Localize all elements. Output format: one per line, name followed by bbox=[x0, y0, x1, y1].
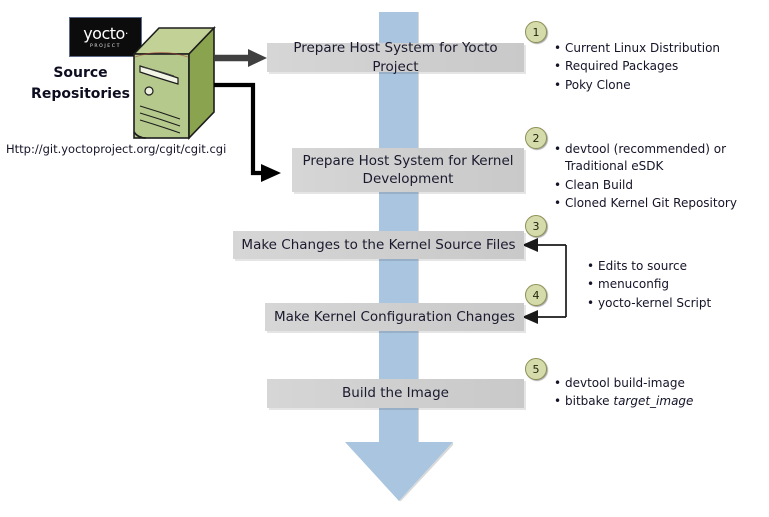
yocto-logo-dot: · bbox=[125, 27, 128, 40]
list-item: bitbake target_image bbox=[565, 393, 751, 410]
list-item: devtool build-image bbox=[565, 375, 751, 392]
server-tower-icon bbox=[132, 26, 216, 140]
yocto-logo-text: yocto bbox=[83, 24, 125, 43]
step-4-box-label: Make Kernel Configuration Changes bbox=[274, 308, 515, 326]
step-2-box-label-line1: Prepare Host System for Kernel bbox=[302, 153, 513, 169]
list-item: devtool (recommended) or Traditional eSD… bbox=[565, 141, 751, 176]
list-item: Required Packages bbox=[565, 58, 766, 75]
list-item: Edits to source bbox=[598, 258, 764, 275]
list-item-italic: target_image bbox=[613, 394, 693, 408]
step-4-number: 4 bbox=[533, 289, 540, 302]
step-5-bullets: devtool build-image bitbake target_image bbox=[551, 375, 751, 412]
step-4-number-badge: 4 bbox=[525, 284, 547, 306]
bracket-arrow-steps-3-4 bbox=[522, 238, 566, 324]
step-1-bullets: Current Linux Distribution Required Pack… bbox=[551, 40, 766, 95]
arrow-server-to-step1 bbox=[214, 49, 267, 67]
diagram-canvas: yocto· PROJECT Source Repositories Http:… bbox=[0, 0, 769, 517]
list-item: Clean Build bbox=[565, 177, 751, 194]
steps-3-4-shared-bullets: Edits to source menuconfig yocto-kernel … bbox=[584, 258, 764, 313]
flow-spine bbox=[379, 12, 419, 442]
step-2-number-badge: 2 bbox=[525, 127, 547, 149]
step-5-number-badge: 5 bbox=[525, 358, 547, 380]
step-3-box[interactable]: Make Changes to the Kernel Source Files bbox=[233, 231, 524, 259]
step-1-number-badge: 1 bbox=[525, 21, 547, 43]
step-2-box-label-line2: Development bbox=[363, 171, 454, 187]
list-item: Cloned Kernel Git Repository bbox=[565, 195, 751, 212]
yocto-logo-subtitle: PROJECT bbox=[90, 44, 121, 49]
source-repositories-label: Source Repositories bbox=[18, 63, 143, 105]
step-4-box[interactable]: Make Kernel Configuration Changes bbox=[265, 303, 524, 331]
step-3-number: 3 bbox=[533, 220, 540, 233]
step-2-bullets: devtool (recommended) or Traditional eSD… bbox=[551, 141, 751, 214]
source-repository-url: Http://git.yoctoproject.org/cgit/cgit.cg… bbox=[6, 142, 226, 156]
list-item: menuconfig bbox=[598, 276, 764, 293]
step-2-box-label: Prepare Host System for Kernel Developme… bbox=[302, 152, 513, 188]
step-3-box-label: Make Changes to the Kernel Source Files bbox=[241, 236, 515, 254]
step-3-number-badge: 3 bbox=[525, 215, 547, 237]
source-repositories-label-line1: Source bbox=[18, 63, 143, 84]
arrow-server-to-step2 bbox=[214, 85, 281, 182]
yocto-logo-wordmark: yocto· bbox=[83, 26, 128, 42]
source-repositories-label-line2: Repositories bbox=[18, 84, 143, 105]
step-1-box[interactable]: Prepare Host System for Yocto Project bbox=[267, 43, 524, 72]
step-5-number: 5 bbox=[533, 363, 540, 376]
step-1-number: 1 bbox=[533, 26, 540, 39]
list-item-plain: bitbake bbox=[565, 394, 613, 408]
step-2-number: 2 bbox=[533, 132, 540, 145]
step-1-box-label: Prepare Host System for Yocto Project bbox=[273, 39, 518, 75]
flow-spine-arrowhead bbox=[344, 441, 454, 503]
step-5-box[interactable]: Build the Image bbox=[267, 379, 524, 408]
list-item: Current Linux Distribution bbox=[565, 40, 766, 57]
list-item: Poky Clone bbox=[565, 77, 766, 94]
step-5-box-label: Build the Image bbox=[342, 384, 449, 402]
list-item: yocto-kernel Script bbox=[598, 295, 764, 312]
step-2-box[interactable]: Prepare Host System for Kernel Developme… bbox=[292, 148, 524, 192]
